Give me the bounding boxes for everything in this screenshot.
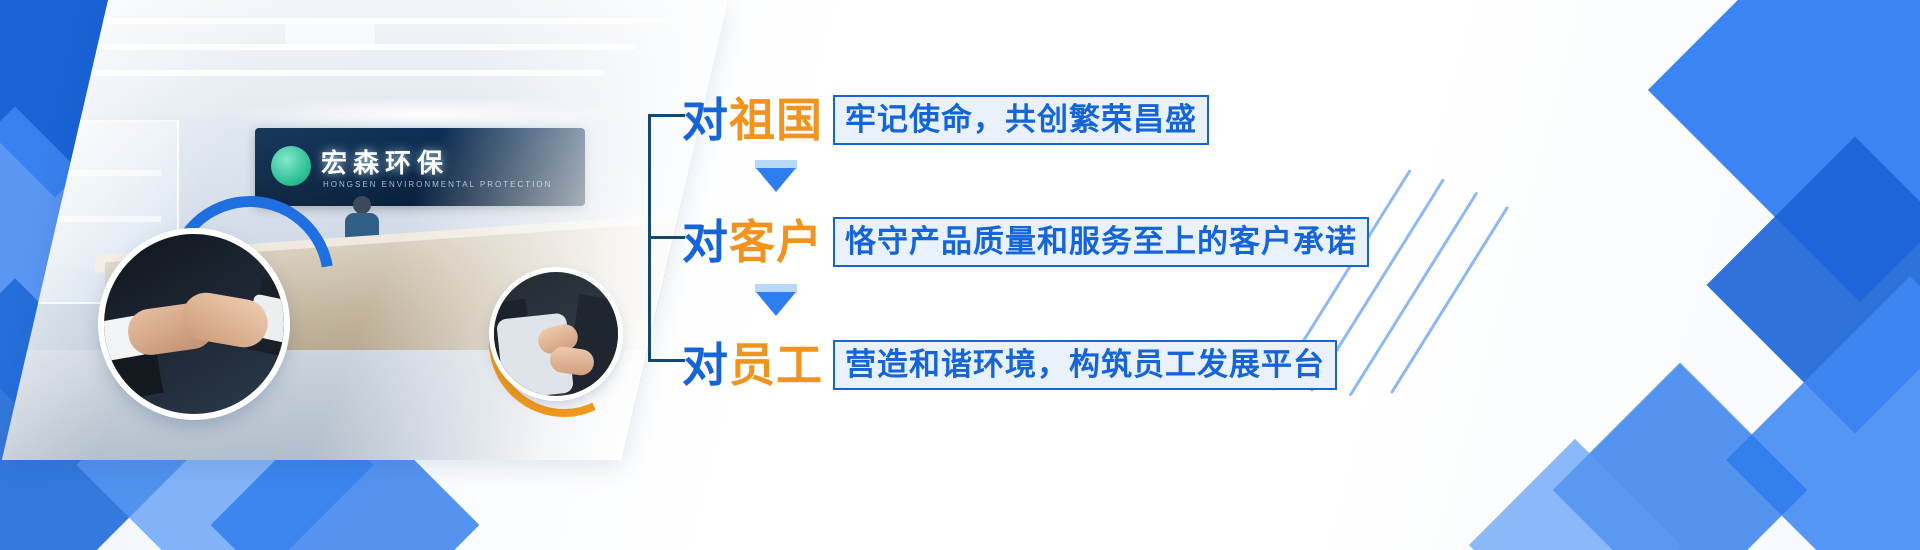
slogan-row-customer: 对客户 恪守产品质量和服务至上的客户承诺	[682, 217, 1369, 267]
slogan-keyword: 客户	[729, 216, 823, 268]
company-culture-banner: 宏森环保 HONGSEN ENVIRONMENTAL PROTECTION	[0, 0, 1920, 550]
decor-diamond-right-2	[1707, 137, 1920, 434]
slogan-group: 对祖国 牢记使命，共创繁荣昌盛 对客户 恪守产品质量和服务至上的客户承诺 对员工…	[648, 70, 1408, 400]
slogan-text-employee: 营造和谐环境，构筑员工发展平台	[833, 340, 1337, 390]
handshake-photo	[104, 234, 284, 414]
bracket-connector	[648, 114, 685, 362]
slogan-keyword: 祖国	[729, 94, 823, 146]
slogan-prefix: 对	[682, 94, 729, 146]
decor-diamond-right-1	[1648, 0, 1920, 302]
slogan-row-employee: 对员工 营造和谐环境，构筑员工发展平台	[682, 340, 1337, 390]
slogan-keyword: 员工	[729, 339, 823, 391]
slogan-text-customer: 恪守产品质量和服务至上的客户承诺	[833, 217, 1369, 267]
decor-diamond-right-3	[1726, 276, 1920, 550]
applause-photo	[494, 272, 618, 396]
slogan-prefix: 对	[682, 216, 729, 268]
slogan-label-employee: 对员工	[682, 342, 823, 388]
arrow-down-icon-1	[756, 168, 796, 192]
slogan-label-customer: 对客户	[682, 219, 823, 265]
slogan-row-country: 对祖国 牢记使命，共创繁荣昌盛	[682, 95, 1209, 145]
decor-diamond-right-4	[1553, 363, 1808, 550]
slogan-text-country: 牢记使命，共创繁荣昌盛	[833, 95, 1209, 145]
arrow-down-icon-2	[756, 292, 796, 316]
slogan-prefix: 对	[682, 339, 729, 391]
slogan-label-country: 对祖国	[682, 97, 823, 143]
decor-diamond-right-5	[1469, 439, 1681, 550]
